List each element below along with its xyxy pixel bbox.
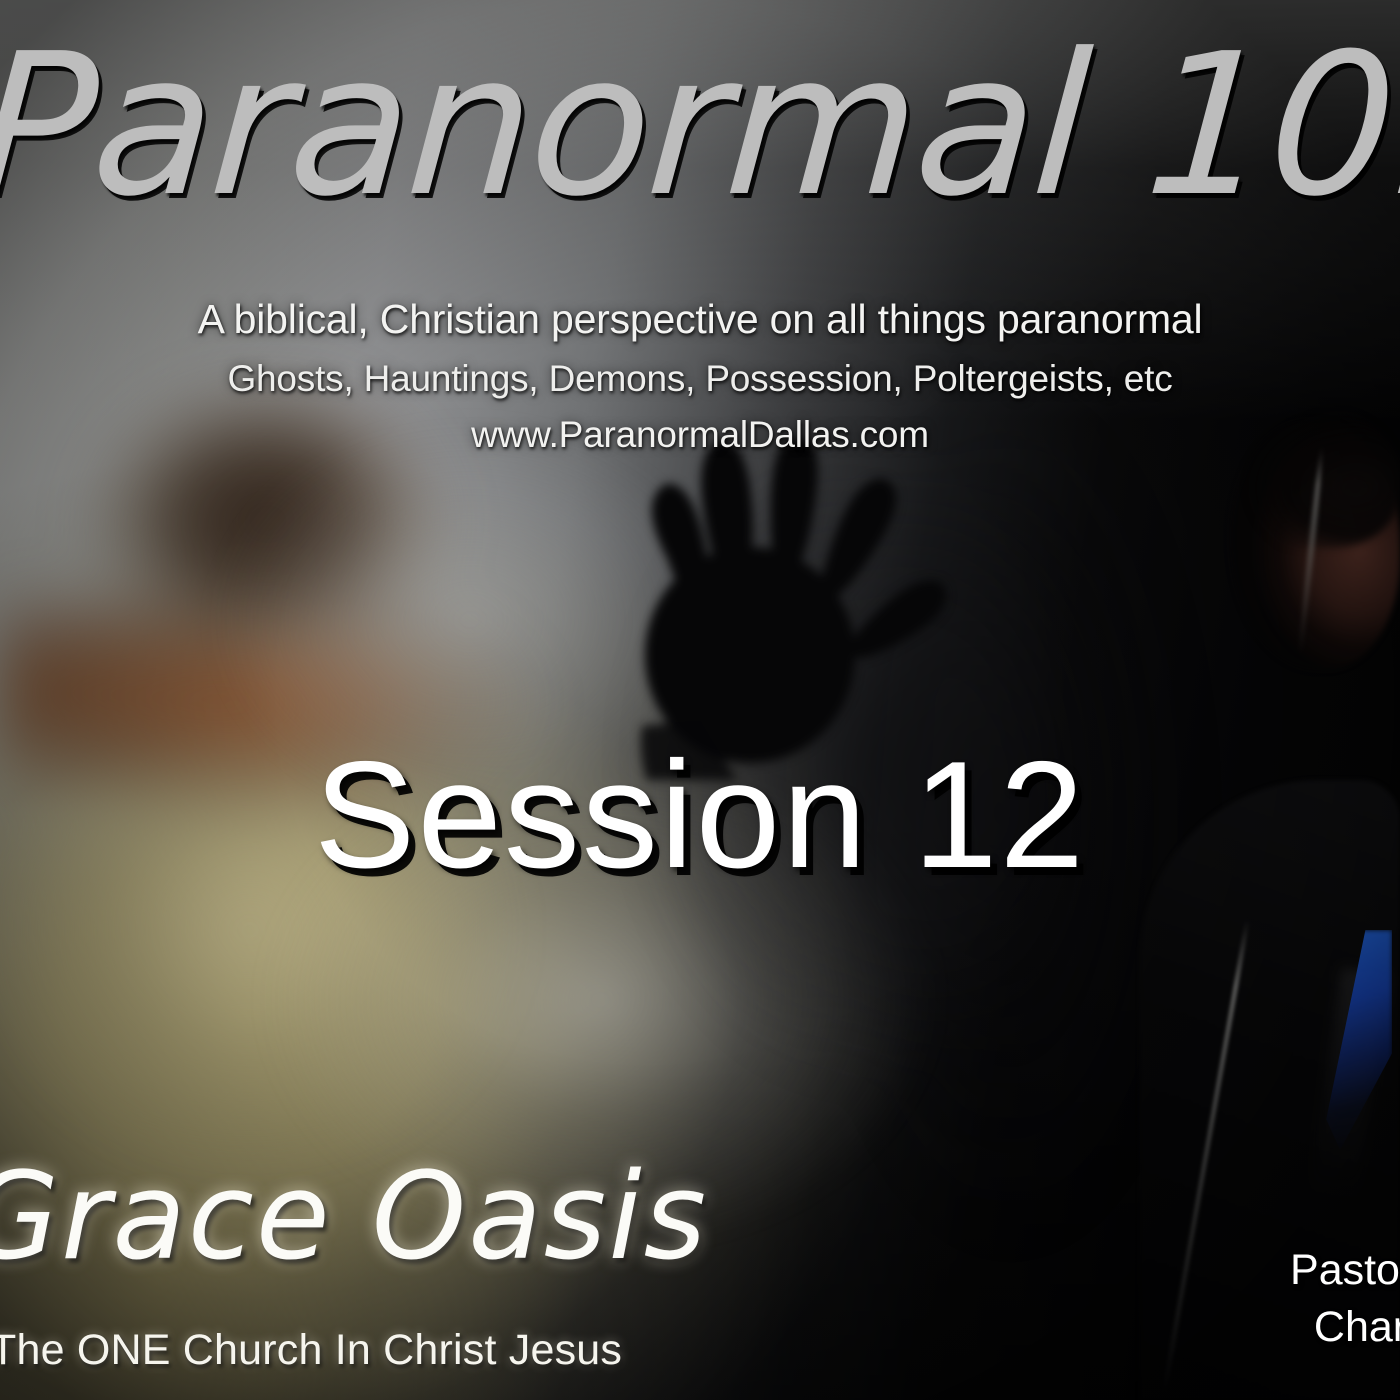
speaker-credit-name: Charles xyxy=(1290,1299,1400,1356)
show-tagline: A biblical, Christian perspective on all… xyxy=(0,296,1400,343)
podcast-cover-art: Paranormal 101 A biblical, Christian per… xyxy=(0,0,1400,1400)
church-brand-name: Grace Oasis xyxy=(0,1158,708,1278)
show-topics: Ghosts, Hauntings, Demons, Possession, P… xyxy=(0,358,1400,400)
speaker-credit-role: Pastor, Ev xyxy=(1290,1242,1400,1299)
show-title: Paranormal 101 xyxy=(0,28,1400,224)
session-number-label: Session 12 xyxy=(0,728,1400,903)
website-url[interactable]: www.ParanormalDallas.com xyxy=(0,414,1400,456)
speaker-credit: Pastor, Ev Charles xyxy=(1290,1242,1400,1356)
church-brand-tagline: The ONE Church In Christ Jesus xyxy=(0,1326,622,1375)
